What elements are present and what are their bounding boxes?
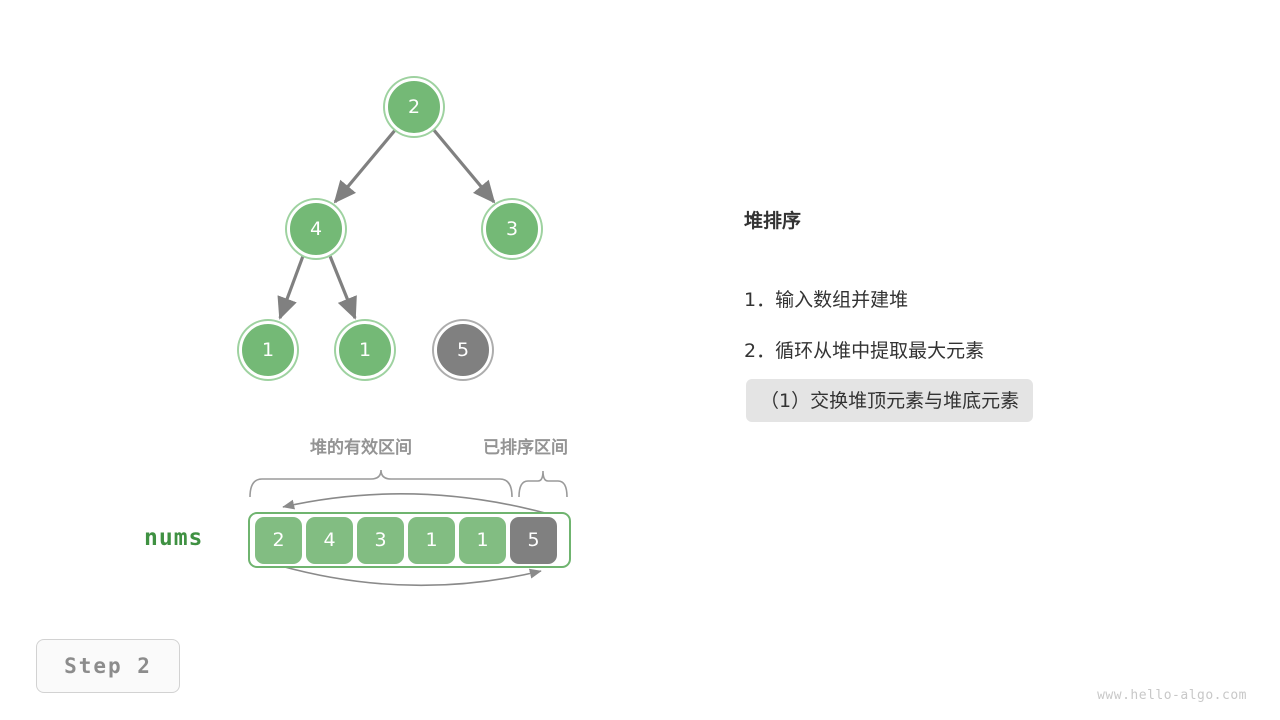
tree-node-value: 4 bbox=[310, 218, 322, 240]
array-cell-value: 5 bbox=[527, 529, 539, 551]
panel-title: 堆排序 bbox=[744, 206, 801, 233]
swap-arc-top bbox=[283, 494, 545, 513]
panel-step-2: 2．循环从堆中提取最大元素 bbox=[744, 336, 984, 363]
array-cell-1[interactable]: 4 bbox=[306, 517, 353, 564]
array-cell-5-sorted[interactable]: 5 bbox=[510, 517, 557, 564]
tree-edge-4-to-1-right bbox=[330, 256, 355, 318]
illustration-canvas: 2 4 3 1 1 5 堆的有效区间 已排序区间 nums 2 4 3 bbox=[0, 0, 1280, 720]
tree-node-value: 5 bbox=[457, 339, 469, 361]
panel-step-1: 1．输入数组并建堆 bbox=[744, 285, 908, 312]
tree-node-1[interactable]: 4 bbox=[287, 200, 345, 258]
array-cell-3[interactable]: 1 bbox=[408, 517, 455, 564]
region-label-heap-range: 堆的有效区间 bbox=[310, 433, 412, 458]
footer-url: www.hello-algo.com bbox=[1097, 688, 1247, 703]
tree-edge-2-to-3 bbox=[433, 129, 494, 202]
step-badge-label: Step 2 bbox=[64, 654, 152, 678]
tree-node-4[interactable]: 1 bbox=[336, 321, 394, 379]
array-name-label: nums bbox=[144, 525, 203, 551]
tree-node-2[interactable]: 3 bbox=[483, 200, 541, 258]
tree-node-3[interactable]: 1 bbox=[239, 321, 297, 379]
array-cell-value: 1 bbox=[476, 529, 488, 551]
tree-node-value: 1 bbox=[359, 339, 371, 361]
array-cell-value: 4 bbox=[323, 529, 335, 551]
array-cell-2[interactable]: 3 bbox=[357, 517, 404, 564]
tree-node-value: 1 bbox=[262, 339, 274, 361]
region-label-sorted-range: 已排序区间 bbox=[483, 433, 568, 458]
tree-node-5-sorted[interactable]: 5 bbox=[434, 321, 492, 379]
tree-node-value: 3 bbox=[506, 218, 518, 240]
panel-step-2-1-highlighted: （1）交换堆顶元素与堆底元素 bbox=[746, 379, 1033, 422]
tree-edge-2-to-4 bbox=[335, 129, 396, 202]
array-cell-value: 3 bbox=[374, 529, 386, 551]
region-braces bbox=[250, 470, 567, 497]
array-cell-value: 2 bbox=[272, 529, 284, 551]
array-cell-value: 1 bbox=[425, 529, 437, 551]
tree-node-value: 2 bbox=[408, 96, 420, 118]
vector-layer bbox=[0, 0, 1280, 720]
brace-sorted-range bbox=[519, 471, 567, 497]
array-cell-4[interactable]: 1 bbox=[459, 517, 506, 564]
array-cell-0[interactable]: 2 bbox=[255, 517, 302, 564]
brace-heap-range bbox=[250, 470, 512, 497]
tree-node-0[interactable]: 2 bbox=[385, 78, 443, 136]
swap-arc-bottom bbox=[281, 566, 541, 585]
array-container: 2 4 3 1 1 5 bbox=[248, 512, 571, 568]
tree-edge-4-to-1-left bbox=[280, 256, 303, 318]
step-badge: Step 2 bbox=[36, 639, 180, 693]
